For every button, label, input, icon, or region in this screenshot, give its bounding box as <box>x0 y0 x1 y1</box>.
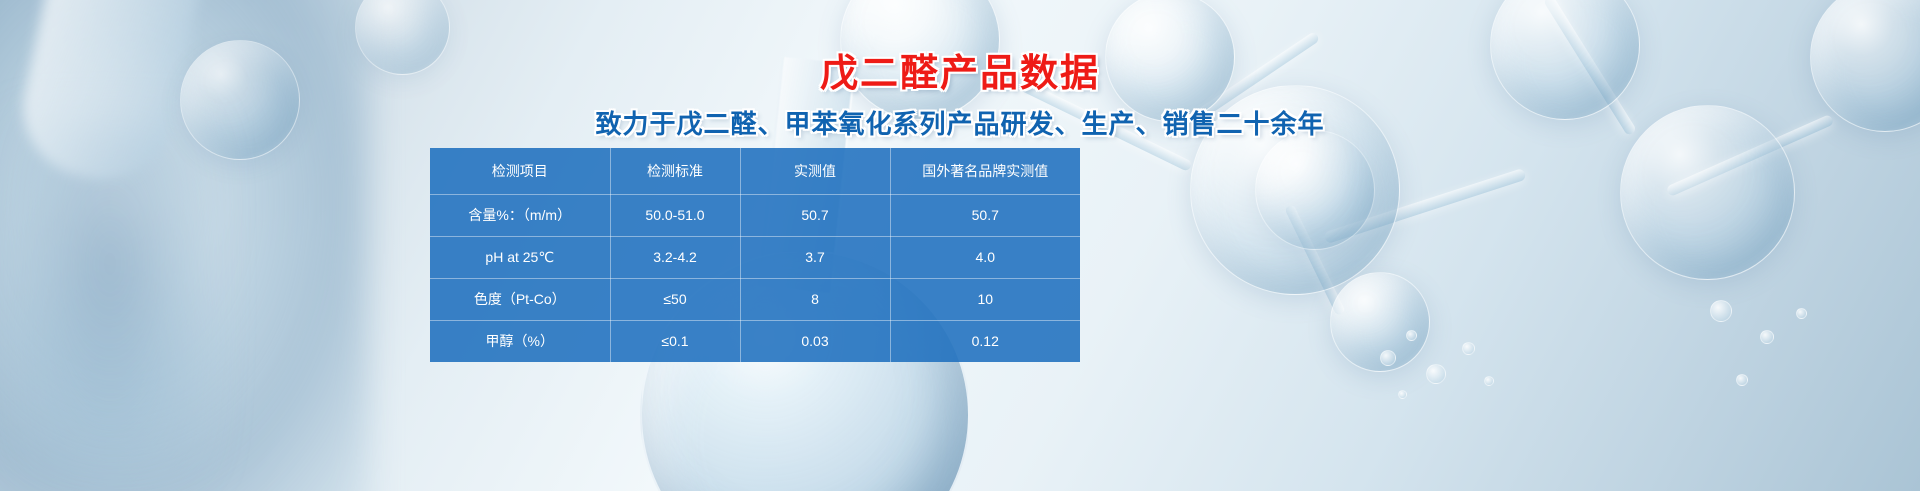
table-head: 检测项目 检测标准 实测值 国外著名品牌实测值 <box>430 148 1080 194</box>
cell-foreign-value: 4.0 <box>890 236 1080 278</box>
table-header-row: 检测项目 检测标准 实测值 国外著名品牌实测值 <box>430 148 1080 194</box>
page-subtitle: 致力于戊二醛、甲苯氧化系列产品研发、生产、销售二十余年 <box>0 108 1920 140</box>
cell-foreign-value: 10 <box>890 278 1080 320</box>
product-spec-table: 检测项目 检测标准 实测值 国外著名品牌实测值 含量%：（m/m） 50.0-5… <box>430 148 1080 362</box>
cell-test-item: 色度（Pt-Co） <box>430 278 610 320</box>
cell-test-standard: 3.2-4.2 <box>610 236 740 278</box>
cell-measured-value: 3.7 <box>740 236 890 278</box>
cell-test-standard: ≤50 <box>610 278 740 320</box>
heading-block: 戊二醛产品数据 致力于戊二醛、甲苯氧化系列产品研发、生产、销售二十余年 <box>0 52 1920 140</box>
table-row: 色度（Pt-Co） ≤50 8 10 <box>430 278 1080 320</box>
column-header-test-item: 检测项目 <box>430 148 610 194</box>
cell-test-item: pH at 25℃ <box>430 236 610 278</box>
cell-measured-value: 8 <box>740 278 890 320</box>
cell-measured-value: 0.03 <box>740 320 890 362</box>
column-header-test-standard: 检测标准 <box>610 148 740 194</box>
cell-foreign-value: 0.12 <box>890 320 1080 362</box>
cell-test-standard: 50.0-51.0 <box>610 194 740 236</box>
cell-test-item: 甲醇（%） <box>430 320 610 362</box>
table-row: pH at 25℃ 3.2-4.2 3.7 4.0 <box>430 236 1080 278</box>
spec-table-container: 检测项目 检测标准 实测值 国外著名品牌实测值 含量%：（m/m） 50.0-5… <box>430 148 1080 362</box>
cell-foreign-value: 50.7 <box>890 194 1080 236</box>
table-row: 甲醇（%） ≤0.1 0.03 0.12 <box>430 320 1080 362</box>
column-header-measured-value: 实测值 <box>740 148 890 194</box>
cell-test-standard: ≤0.1 <box>610 320 740 362</box>
table-row: 含量%：（m/m） 50.0-51.0 50.7 50.7 <box>430 194 1080 236</box>
banner-content: 戊二醛产品数据 致力于戊二醛、甲苯氧化系列产品研发、生产、销售二十余年 检测项目… <box>0 0 1920 491</box>
product-data-banner: 戊二醛产品数据 致力于戊二醛、甲苯氧化系列产品研发、生产、销售二十余年 检测项目… <box>0 0 1920 491</box>
cell-test-item: 含量%：（m/m） <box>430 194 610 236</box>
cell-measured-value: 50.7 <box>740 194 890 236</box>
column-header-foreign-brand-value: 国外著名品牌实测值 <box>890 148 1080 194</box>
page-title: 戊二醛产品数据 <box>0 52 1920 96</box>
table-body: 含量%：（m/m） 50.0-51.0 50.7 50.7 pH at 25℃ … <box>430 194 1080 362</box>
